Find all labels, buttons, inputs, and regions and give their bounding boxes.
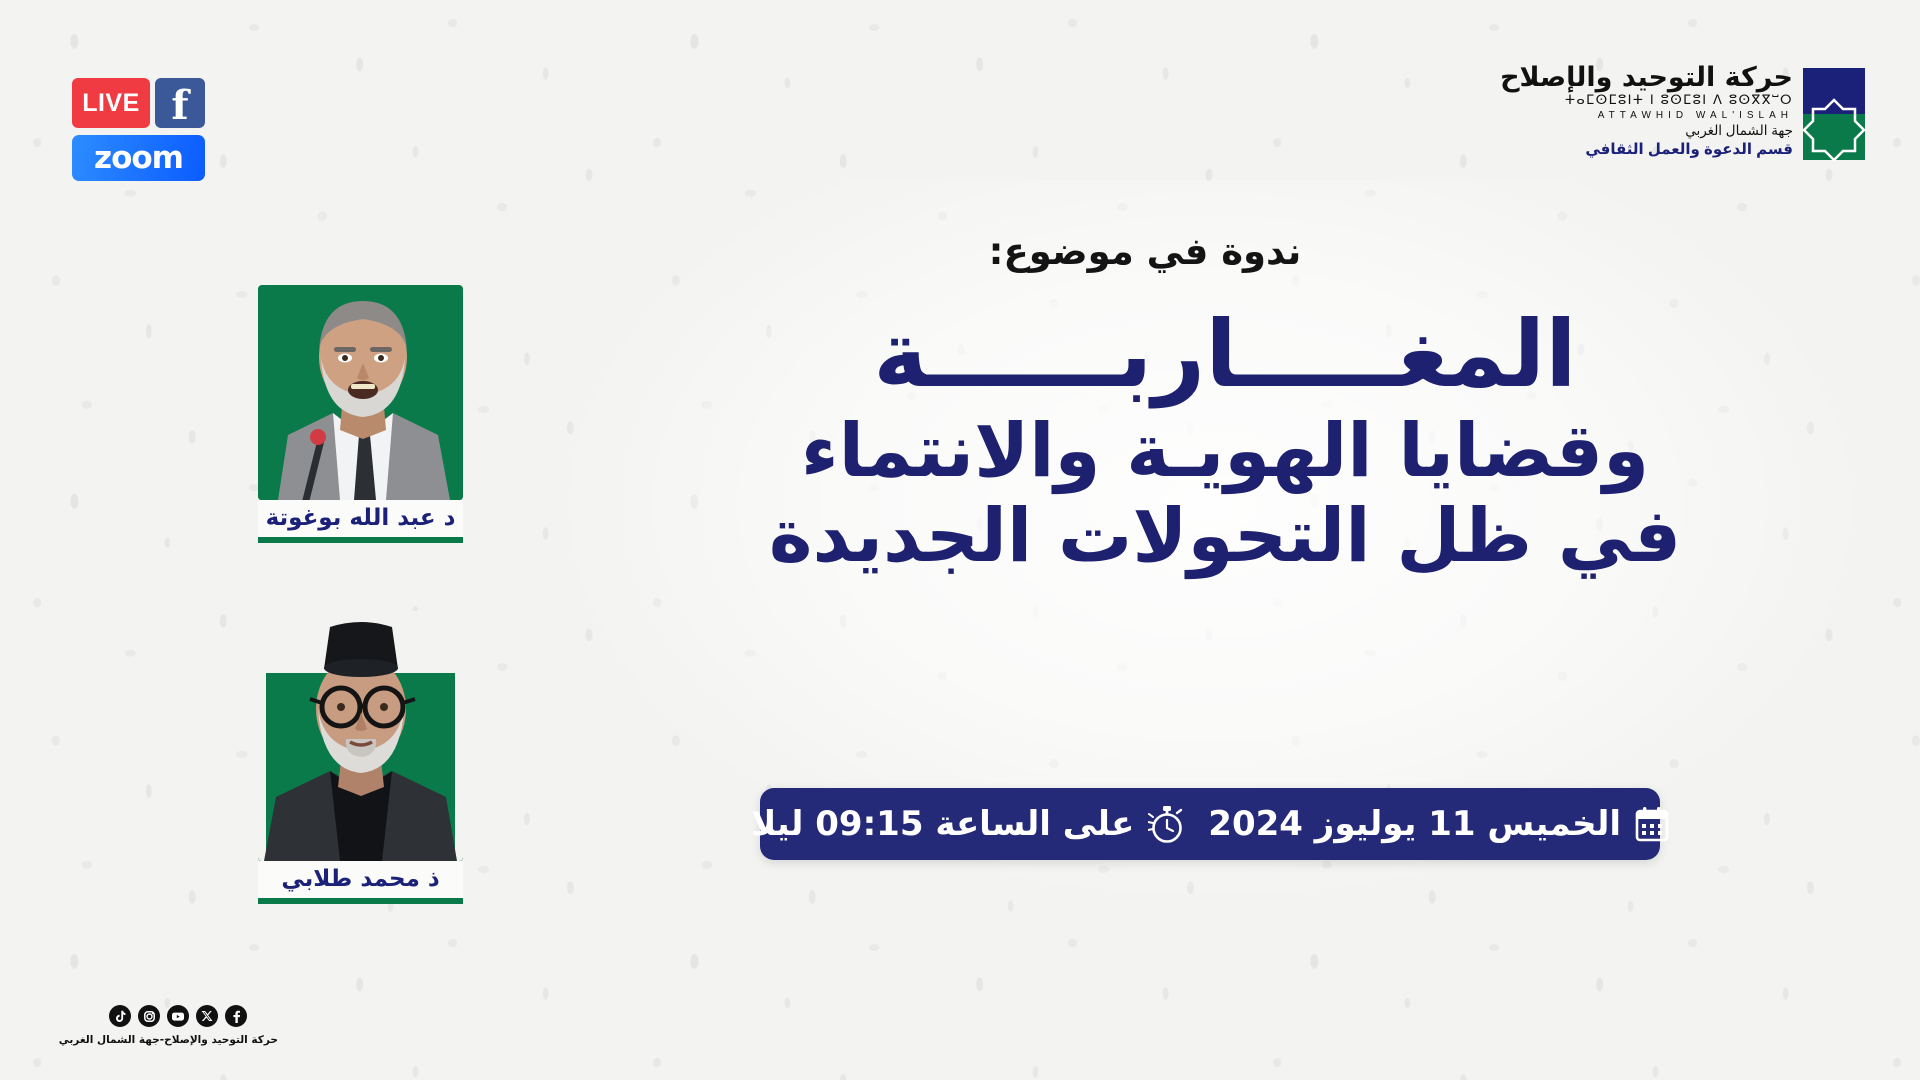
portrait-tallabi-icon bbox=[258, 611, 463, 861]
speaker-card: ذ محمد طلابي bbox=[258, 611, 463, 904]
logo-latin-name: ATTAWHID WAL'ISLAH bbox=[1598, 109, 1793, 122]
speaker-photo bbox=[258, 611, 463, 861]
zoom-row: zoom bbox=[72, 135, 205, 181]
facebook-live-row: f LIVE bbox=[72, 78, 205, 128]
logo-text-block: حركة التوحيد والإصلاح ⵜⴰⵎⵙⵎⵓⵏⵜ ⵏ ⵓⵙⵎⵓⵏ ⴷ… bbox=[1500, 62, 1793, 160]
logo-arabic-name: حركة التوحيد والإصلاح bbox=[1500, 62, 1793, 93]
logo-region: جهة الشمال الغربي bbox=[1685, 122, 1793, 140]
x-icon[interactable] bbox=[196, 1005, 218, 1027]
organization-logo: حركة التوحيد والإصلاح ⵜⴰⵎⵙⵎⵓⵏⵜ ⵏ ⵓⵙⵎⵓⵏ ⴷ… bbox=[1500, 62, 1865, 160]
live-label: LIVE bbox=[82, 89, 140, 118]
stream-badges: f LIVE zoom bbox=[72, 78, 205, 181]
facebook-glyph: f bbox=[171, 86, 188, 126]
calendar-icon bbox=[1635, 806, 1669, 842]
headline-line-2: وقضايا الهويـة والانتماء bbox=[600, 410, 1850, 493]
live-badge[interactable]: LIVE bbox=[72, 78, 150, 128]
date-text: الخميس 11 يوليوز 2024 bbox=[1208, 804, 1621, 844]
time-segment: على الساعة 09:15 ليلا bbox=[751, 803, 1186, 845]
date-segment: الخميس 11 يوليوز 2024 bbox=[1208, 804, 1669, 844]
event-poster: f LIVE zoom حركة التوحيد والإصلاح ⵜⴰⵎⵙⵎⵓ… bbox=[0, 0, 1920, 1080]
stopwatch-icon bbox=[1148, 803, 1186, 845]
facebook-icon[interactable] bbox=[225, 1005, 247, 1027]
instagram-icon[interactable] bbox=[138, 1005, 160, 1027]
logo-emblem bbox=[1803, 68, 1865, 160]
portrait-boughouta-icon bbox=[258, 285, 463, 500]
headline-line-1: المغـــــاربــــــة bbox=[600, 303, 1850, 406]
headline-line-3: في ظل التحولات الجديدة bbox=[600, 495, 1850, 578]
speaker-name-plate: ذ محمد طلابي bbox=[258, 861, 463, 904]
speaker-photo bbox=[258, 285, 463, 500]
logo-tifinagh-name: ⵜⴰⵎⵙⵎⵓⵏⵜ ⵏ ⵓⵙⵎⵓⵏ ⴷ ⵓⵙⴳⴳⵯⵔ bbox=[1565, 93, 1793, 109]
speaker-card: د عبد الله بوغوتة bbox=[258, 285, 463, 543]
speaker-name-plate: د عبد الله بوغوتة bbox=[258, 500, 463, 543]
speakers-column: د عبد الله بوغوتة bbox=[258, 285, 463, 972]
logo-department: قسم الدعوة والعمل الثقافي bbox=[1585, 140, 1793, 160]
time-text: على الساعة 09:15 ليلا bbox=[751, 804, 1134, 844]
facebook-icon[interactable]: f bbox=[155, 78, 205, 128]
main-content: ندوة في موضوع: المغـــــاربــــــة وقضاي… bbox=[600, 230, 1850, 578]
footer-organization: حركة التوحيد والإصلاح-جهة الشمال الغربي bbox=[78, 1034, 278, 1046]
speaker-name: ذ محمد طلابي bbox=[281, 866, 439, 892]
emblem-green-block bbox=[1803, 114, 1865, 160]
footer: حركة التوحيد والإصلاح-جهة الشمال الغربي bbox=[78, 1005, 278, 1046]
kicker-text: ندوة في موضوع: bbox=[600, 230, 1850, 273]
youtube-icon[interactable] bbox=[167, 1005, 189, 1027]
speaker-name: د عبد الله بوغوتة bbox=[266, 505, 456, 531]
emblem-blue-block bbox=[1803, 68, 1865, 114]
zoom-label: zoom bbox=[94, 140, 183, 176]
zoom-badge[interactable]: zoom bbox=[72, 135, 205, 181]
social-icons bbox=[78, 1005, 278, 1027]
tiktok-icon[interactable] bbox=[109, 1005, 131, 1027]
datetime-badge: الخميس 11 يوليوز 2024 على الساعة 09:15 ل… bbox=[760, 788, 1660, 860]
